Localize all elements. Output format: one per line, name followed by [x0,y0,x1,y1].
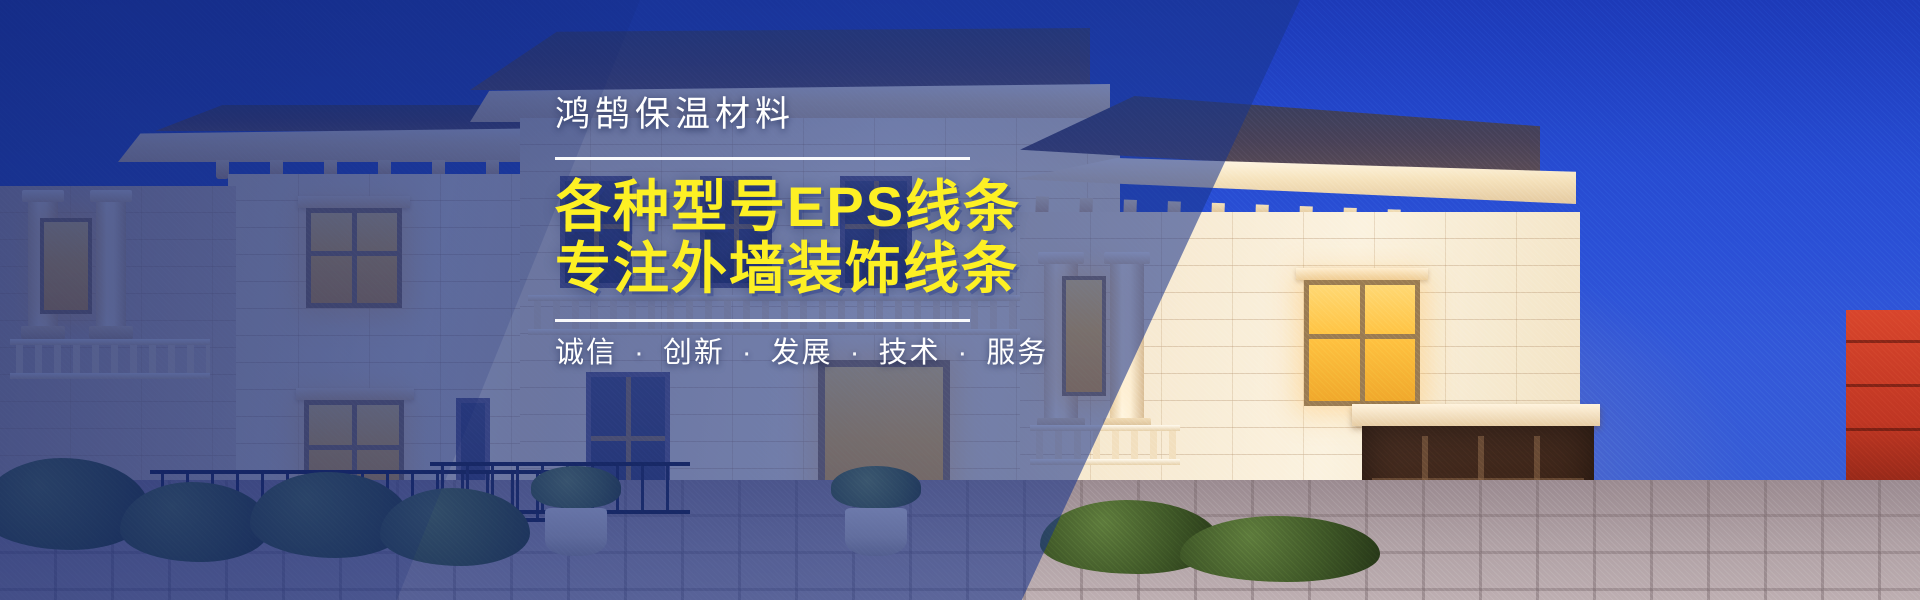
tagline-item-4: 技术 [878,337,940,369]
tagline-item-1: 诚信 [555,337,617,369]
tagline-item-3: 发展 [771,337,833,369]
tagline-item-2: 创新 [663,337,725,369]
tagline-separator: · [634,337,646,369]
brand-name: 鸿鹄保温材料 [555,96,1255,135]
divider-below-headline [555,319,970,322]
headline-line-2: 专注外墙装饰线条 [555,238,1255,301]
lit-window-right [1304,280,1420,406]
garage-hood [1352,404,1600,426]
promo-banner: 鸿鹄保温材料 各种型号EPS线条 专注外墙装饰线条 诚信 · 创新 · 发展 ·… [0,0,1920,600]
tagline: 诚信 · 创新 · 发展 · 技术 · 服务 [555,336,1255,371]
tagline-separator: · [958,337,970,369]
right-window-hood [1296,268,1428,280]
tagline-separator: · [742,337,754,369]
tagline-separator: · [850,337,862,369]
banner-text-block: 鸿鹄保温材料 各种型号EPS线条 专注外墙装饰线条 诚信 · 创新 · 发展 ·… [555,96,1255,371]
red-structure-right-edge [1846,310,1920,495]
divider-above-headline [555,157,970,160]
headline-line-1: 各种型号EPS线条 [555,176,1255,239]
tagline-item-5: 服务 [986,337,1048,369]
